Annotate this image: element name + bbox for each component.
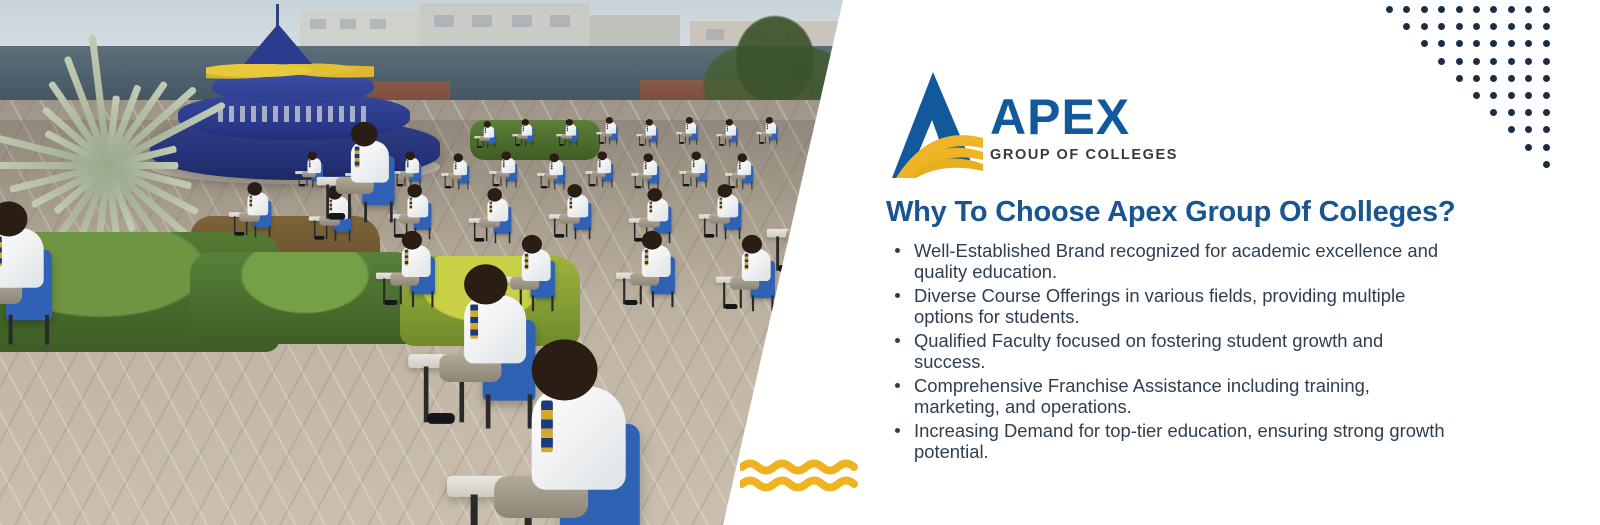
decor-dot — [1543, 40, 1550, 47]
decor-dot — [1525, 75, 1532, 82]
decor-dot — [1508, 92, 1515, 99]
decor-dot — [1438, 40, 1445, 47]
student-at-desk — [478, 120, 483, 127]
decor-dot — [1525, 92, 1532, 99]
benefit-item: Diverse Course Offerings in various fiel… — [888, 285, 1448, 327]
student-at-desk — [636, 152, 645, 165]
decor-dot — [1438, 23, 1445, 30]
decor-dot — [1490, 40, 1497, 47]
decor-dot — [1456, 23, 1463, 30]
decor-dot — [1473, 58, 1480, 65]
benefit-item: Qualified Faculty focused on fostering s… — [888, 330, 1448, 372]
student-at-desk — [494, 150, 503, 163]
decor-dot — [1543, 144, 1550, 151]
decor-dot — [1438, 58, 1445, 65]
decor-dot — [1543, 126, 1550, 133]
decor-dot — [1543, 23, 1550, 30]
decor-dot — [1508, 40, 1515, 47]
decor-dot — [1508, 126, 1515, 133]
student-at-desk — [720, 118, 725, 125]
student-at-desk — [626, 228, 667, 285]
benefit-item: Well-Established Brand recognized for ac… — [888, 240, 1448, 282]
photo-scene — [0, 0, 870, 525]
decor-dot — [1456, 6, 1463, 13]
student-at-desk — [386, 228, 427, 285]
decor-dot — [1508, 6, 1515, 13]
student-at-desk — [684, 150, 693, 163]
student-at-desk — [236, 180, 258, 210]
student-at-desk — [560, 118, 565, 125]
student-at-desk — [480, 330, 870, 525]
student-at-desk — [726, 232, 767, 289]
student-at-desk — [542, 152, 551, 165]
student-at-desk — [640, 118, 645, 125]
decor-dot — [1473, 40, 1480, 47]
benefit-item: Increasing Demand for top-tier education… — [888, 420, 1448, 462]
triangular-dot-grid — [1386, 6, 1558, 182]
decor-dot — [1438, 6, 1445, 13]
decor-dot — [1403, 6, 1410, 13]
decor-dot — [1543, 58, 1550, 65]
decor-dot — [1525, 144, 1532, 151]
student-at-desk — [636, 186, 658, 216]
courtyard-exam-photo — [0, 0, 870, 525]
student-at-desk — [0, 196, 106, 396]
decor-dot — [1525, 23, 1532, 30]
decor-dot — [1473, 6, 1480, 13]
decor-dot — [1490, 109, 1497, 116]
student-at-desk — [556, 182, 578, 212]
decor-dot — [1508, 109, 1515, 116]
benefits-list: Well-Established Brand recognized for ac… — [888, 240, 1448, 465]
decor-dot — [1473, 23, 1480, 30]
student-at-desk — [600, 116, 605, 123]
student-at-desk — [330, 118, 402, 217]
decor-dot — [1525, 58, 1532, 65]
decor-dot — [1543, 161, 1550, 168]
apex-word: APEX — [990, 92, 1178, 142]
blue-umbrella — [244, 24, 312, 64]
apex-tagline: GROUP OF COLLEGES — [990, 147, 1178, 163]
decor-dot — [1490, 92, 1497, 99]
student-at-desk — [590, 150, 599, 163]
decor-dot — [1490, 75, 1497, 82]
decor-dot — [1543, 75, 1550, 82]
student-at-desk — [706, 182, 728, 212]
decor-dot — [1508, 23, 1515, 30]
decor-dot — [1490, 23, 1497, 30]
benefit-item: Comprehensive Franchise Assistance inclu… — [888, 375, 1448, 417]
decor-dot — [1490, 6, 1497, 13]
student-at-desk — [476, 186, 498, 216]
decor-dot — [1543, 92, 1550, 99]
decor-dot — [1456, 40, 1463, 47]
decor-dot — [1525, 40, 1532, 47]
decor-dot — [1508, 58, 1515, 65]
decor-dot — [1456, 58, 1463, 65]
decor-dot — [1421, 6, 1428, 13]
page-title: Why To Choose Apex Group Of Colleges? — [886, 196, 1455, 229]
decor-dot — [1543, 109, 1550, 116]
apex-logo[interactable]: APEX GROUP OF COLLEGES — [886, 68, 1178, 180]
decor-dot — [1421, 23, 1428, 30]
decor-dot — [1543, 6, 1550, 13]
decor-dot — [1490, 58, 1497, 65]
decor-dot — [1403, 23, 1410, 30]
promo-banner: APEX GROUP OF COLLEGES Why To Choose Ape… — [0, 0, 1600, 525]
decor-dot — [1525, 6, 1532, 13]
student-at-desk — [680, 116, 685, 123]
apex-arrow-logo-icon — [886, 68, 984, 180]
yellow-wave-accent — [740, 458, 864, 492]
student-at-desk — [760, 116, 765, 123]
decor-dot — [1525, 109, 1532, 116]
decor-dot — [1386, 6, 1393, 13]
decor-dot — [1473, 92, 1480, 99]
apex-wordmark: APEX GROUP OF COLLEGES — [990, 86, 1178, 163]
decor-dot — [1421, 40, 1428, 47]
decor-dot — [1473, 75, 1480, 82]
hedge — [820, 126, 870, 160]
decor-dot — [1456, 75, 1463, 82]
decor-dot — [1525, 126, 1532, 133]
student-at-desk — [446, 152, 455, 165]
student-at-desk — [516, 118, 521, 125]
decor-dot — [1508, 75, 1515, 82]
student-at-desk — [780, 170, 852, 269]
student-at-desk — [300, 150, 309, 163]
student-at-desk — [730, 152, 739, 165]
